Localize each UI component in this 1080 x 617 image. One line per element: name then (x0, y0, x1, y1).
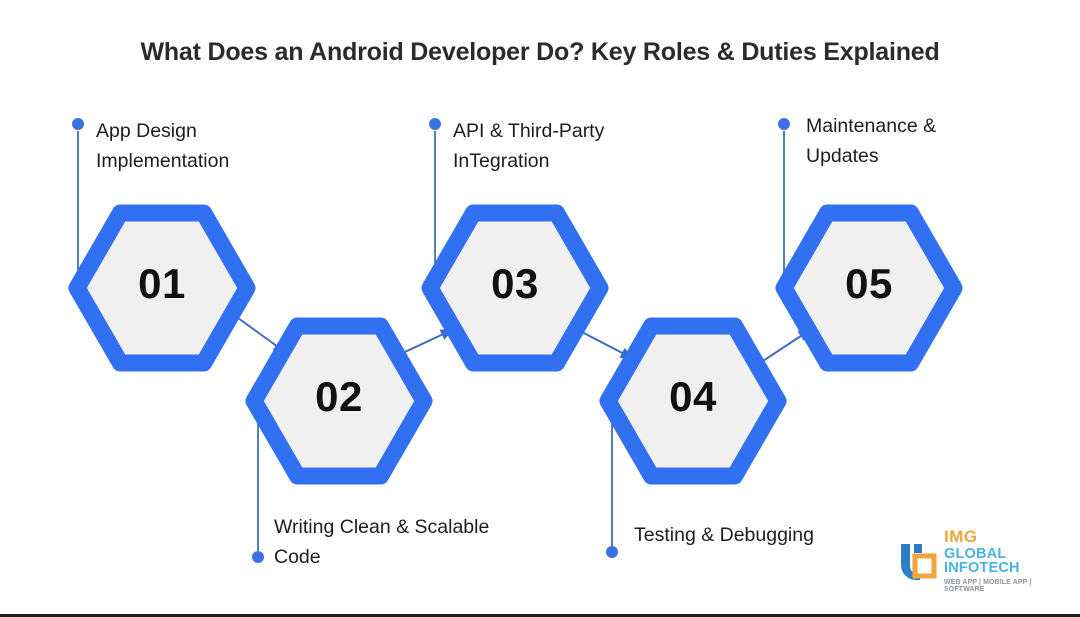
step-label-03: API & Third-Party InTegration (453, 116, 604, 176)
connector-dot-01 (72, 118, 84, 130)
hexagon-01[interactable] (77, 213, 247, 363)
hexagon-shapes (77, 213, 954, 476)
hexagon-04[interactable] (608, 326, 778, 476)
infographic-canvas: What Does an Android Developer Do? Key R… (0, 0, 1080, 617)
step-label-01: App Design Implementation (96, 116, 229, 176)
connector-dot-03 (429, 118, 441, 130)
step-label-04: Testing & Debugging (634, 520, 814, 550)
company-logo[interactable]: IMG GLOBAL INFOTECH WEB APP | MOBILE APP… (898, 536, 1068, 584)
arrow-03-to-04 (578, 330, 632, 358)
step-label-05: Maintenance & Updates (806, 111, 936, 171)
connector-dot-02 (252, 551, 264, 563)
logo-tagline-text: WEB APP | MOBILE APP | SOFTWARE (944, 579, 1068, 593)
step-label-02: Writing Clean & Scalable Code (274, 512, 489, 572)
diagram-svg (0, 0, 1080, 617)
logo-img-text: IMG (944, 528, 1068, 545)
hexagon-05[interactable] (784, 213, 954, 363)
hexagon-02[interactable] (254, 326, 424, 476)
connector-dot-05 (778, 118, 790, 130)
hexagon-03[interactable] (430, 213, 600, 363)
logo-mark-icon (898, 540, 938, 580)
logo-text-block: IMG GLOBAL INFOTECH WEB APP | MOBILE APP… (944, 528, 1068, 593)
logo-global-text: GLOBAL INFOTECH (944, 547, 1068, 576)
connector-dot-04 (606, 546, 618, 558)
